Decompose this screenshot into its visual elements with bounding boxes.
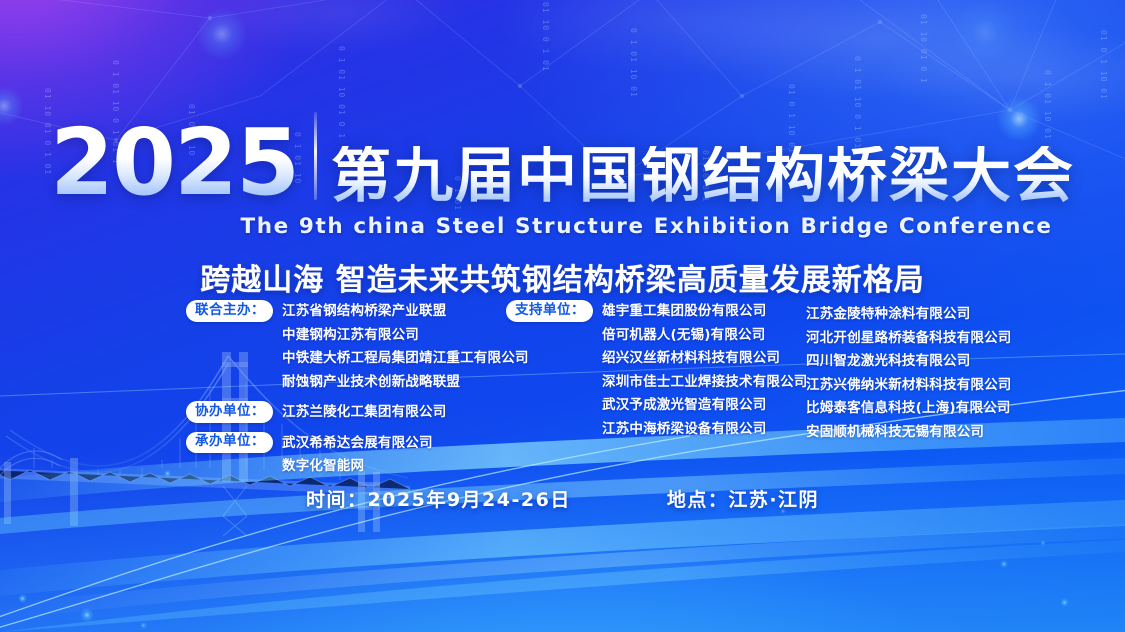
- supporter-column-right: 江苏金陵特种涂料有限公司 河北开创星路桥装备科技有限公司 四川智龙激光科技有限公…: [806, 300, 1036, 486]
- undertaker-list: 武汉希希达会展有限公司 数字化智能网: [282, 432, 433, 479]
- list-item: 中铁建大桥工程局集团靖江重工有限公司: [282, 347, 529, 371]
- organizer-group-undertaker: 承办单位： 武汉希希达会展有限公司 数字化智能网: [186, 432, 506, 479]
- co-host-list: 江苏省钢结构桥梁产业联盟 中建钢构江苏有限公司 中铁建大桥工程局集团靖江重工有限…: [282, 300, 529, 394]
- supporter-list: 雄宇重工集团股份有限公司 倍可机器人(无锡)有限公司 绍兴汉丝新材料科技有限公司…: [602, 300, 808, 441]
- list-item: 安固顺机械科技无锡有限公司: [806, 421, 1036, 445]
- organizer-group-co-host: 联合主办： 江苏省钢结构桥梁产业联盟 中建钢构江苏有限公司 中铁建大桥工程局集团…: [186, 300, 506, 394]
- list-item: 比姆泰客信息科技(上海)有限公司: [806, 397, 1036, 421]
- main-title-cn: 第九届中国钢结构桥梁大会: [331, 146, 1075, 206]
- binary-code-decor: 0 1 01 10 01: [628, 28, 639, 98]
- list-item: 中建钢构江苏有限公司: [282, 324, 529, 348]
- event-date: 时间：2025年9月24-26日: [306, 485, 571, 512]
- poster-tagline: 跨越山海 智造未来共筑钢结构桥梁高质量发展新格局: [0, 255, 1125, 299]
- binary-code-decor: 01 10 01 0 1: [918, 14, 929, 84]
- glow-dot: [196, 8, 248, 60]
- list-item: 倍可机器人(无锡)有限公司: [602, 324, 808, 348]
- list-item: 武汉予成激光智造有限公司: [602, 394, 808, 418]
- binary-code-decor: 01 10 0 1 01: [540, 2, 551, 72]
- label-undertaker: 承办单位：: [186, 432, 273, 454]
- organizations-section: 联合主办： 江苏省钢结构桥梁产业联盟 中建钢构江苏有限公司 中铁建大桥工程局集团…: [186, 300, 1063, 486]
- label-supporter: 支持单位：: [506, 300, 593, 322]
- poster-header: 2025 第九届中国钢结构桥梁大会 The 9th china Steel St…: [0, 112, 1125, 299]
- list-item: 四川智龙激光科技有限公司: [806, 350, 1036, 374]
- title-divider: [314, 112, 317, 200]
- event-location: 地点：江苏·江阴: [667, 485, 819, 512]
- list-item: 数字化智能网: [282, 455, 433, 479]
- list-item: 江苏兰陵化工集团有限公司: [282, 401, 446, 425]
- conference-poster: 01 10 01 0 1 01 0 1 01 10 0 1 01 1 01 0 …: [0, 0, 1125, 632]
- list-item: 河北开创星路桥装备科技有限公司: [806, 327, 1036, 351]
- glow-dot: [948, 2, 1022, 62]
- label-co-host: 联合主办：: [186, 300, 273, 322]
- binary-code-decor: 01 0 1 10 01: [1098, 30, 1109, 100]
- main-title-en: The 9th china Steel Structure Exhibition…: [0, 214, 1125, 239]
- supporter-column-middle: 支持单位： 雄宇重工集团股份有限公司 倍可机器人(无锡)有限公司 绍兴汉丝新材料…: [506, 300, 806, 486]
- organizer-group-supporters: 支持单位： 雄宇重工集团股份有限公司 倍可机器人(无锡)有限公司 绍兴汉丝新材料…: [506, 300, 806, 441]
- list-item: 武汉希希达会展有限公司: [282, 432, 433, 456]
- year-2025: 2025: [50, 121, 314, 206]
- list-item: 耐蚀钢产业技术创新战略联盟: [282, 371, 529, 395]
- organizer-column-left: 联合主办： 江苏省钢结构桥梁产业联盟 中建钢构江苏有限公司 中铁建大桥工程局集团…: [186, 300, 506, 486]
- poster-footer: 时间：2025年9月24-26日 地点：江苏·江阴: [0, 485, 1125, 512]
- list-item: 雄宇重工集团股份有限公司: [602, 300, 808, 324]
- list-item: 深圳市佳士工业焊接技术有限公司: [602, 371, 808, 395]
- list-item: 江苏兴佛纳米新材料科技有限公司: [806, 374, 1036, 398]
- list-item: 江苏中海桥梁设备有限公司: [602, 418, 808, 442]
- label-co-organizer: 协办单位：: [186, 401, 273, 423]
- title-row: 2025 第九届中国钢结构桥梁大会: [0, 112, 1125, 206]
- list-item: 江苏金陵特种涂料有限公司: [806, 303, 1036, 327]
- list-item: 绍兴汉丝新材料科技有限公司: [602, 347, 808, 371]
- list-item: 江苏省钢结构桥梁产业联盟: [282, 300, 529, 324]
- organizer-group-co-organizer: 协办单位： 江苏兰陵化工集团有限公司: [186, 401, 506, 425]
- co-organizer-list: 江苏兰陵化工集团有限公司: [282, 401, 446, 425]
